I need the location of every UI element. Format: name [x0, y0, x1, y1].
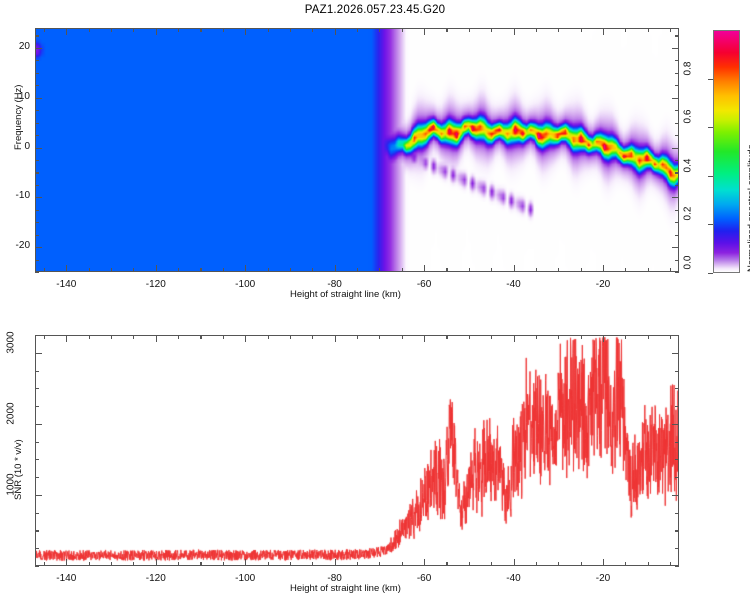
y-tick-right: [675, 210, 679, 211]
x-tick-top: [268, 335, 269, 339]
y-tick-right: [672, 247, 679, 248]
x-tick-top: [648, 335, 649, 339]
snr-line-plot: [36, 336, 679, 566]
x-tick-label: -60: [410, 279, 438, 290]
x-tick: [446, 268, 447, 272]
y-tick-right: [675, 477, 679, 478]
y-tick-right: [675, 85, 679, 86]
x-tick-label: -40: [500, 279, 528, 290]
x-tick: [446, 562, 447, 566]
x-tick-top: [111, 335, 112, 339]
x-tick-top: [89, 28, 90, 32]
y-tick: [35, 477, 39, 478]
y-tick: [35, 371, 39, 372]
x-tick-top: [424, 28, 425, 35]
y-tick-right: [672, 98, 679, 99]
x-tick: [469, 562, 470, 566]
colorbar-tick: [708, 273, 713, 274]
x-tick-label: -60: [410, 573, 438, 584]
x-tick-top: [536, 335, 537, 339]
x-tick-top: [603, 28, 604, 35]
x-tick: [536, 268, 537, 272]
x-tick-top: [312, 335, 313, 339]
y-tick-label: 20: [1, 41, 30, 52]
x-tick-top: [290, 335, 291, 339]
spectrogram-y-axis-label: Frequency (Hz): [13, 85, 24, 150]
y-tick-right: [675, 185, 679, 186]
x-tick-top: [469, 335, 470, 339]
x-tick-label: -140: [52, 573, 80, 584]
x-tick: [603, 559, 604, 566]
y-tick: [35, 548, 39, 549]
x-tick: [357, 268, 358, 272]
x-tick-top: [312, 28, 313, 32]
y-tick: [35, 172, 39, 173]
y-tick: [35, 60, 39, 61]
colorbar-tick: [708, 224, 713, 225]
y-tick-right: [675, 272, 679, 273]
x-tick-top: [558, 335, 559, 339]
x-tick-label: -40: [500, 573, 528, 584]
x-tick: [581, 562, 582, 566]
snr-x-axis-label: Height of straight line (km): [290, 583, 401, 594]
x-tick-top: [200, 28, 201, 32]
y-tick-right: [675, 35, 679, 36]
x-tick-top: [402, 28, 403, 32]
y-tick-right: [675, 172, 679, 173]
x-tick: [603, 265, 604, 272]
x-tick-top: [514, 28, 515, 35]
x-tick-label: -120: [142, 573, 170, 584]
y-tick: [35, 424, 42, 425]
x-tick: [111, 268, 112, 272]
y-tick: [35, 353, 42, 354]
y-tick: [35, 566, 39, 567]
x-tick: [312, 562, 313, 566]
x-tick-top: [379, 28, 380, 32]
y-tick-right: [675, 548, 679, 549]
y-tick: [35, 495, 42, 496]
y-tick-right: [675, 388, 679, 389]
x-tick: [268, 268, 269, 272]
snr-panel: [35, 335, 679, 566]
y-tick: [35, 98, 42, 99]
x-tick-top: [156, 28, 157, 35]
x-tick-top: [178, 28, 179, 32]
x-tick: [514, 559, 515, 566]
x-tick: [312, 268, 313, 272]
y-tick-right: [675, 235, 679, 236]
y-tick: [35, 272, 39, 273]
x-tick: [111, 562, 112, 566]
y-tick: [35, 459, 39, 460]
x-tick-top: [89, 335, 90, 339]
y-tick: [35, 123, 39, 124]
spectrogram-x-axis-label: Height of straight line (km): [290, 289, 401, 300]
x-tick-top: [603, 335, 604, 342]
x-tick-top: [357, 28, 358, 32]
x-tick: [290, 268, 291, 272]
x-tick-top: [335, 28, 336, 35]
y-tick: [35, 260, 39, 261]
x-tick: [424, 559, 425, 566]
y-tick-right: [672, 197, 679, 198]
x-tick-top: [357, 335, 358, 339]
y-tick-right: [675, 222, 679, 223]
x-tick: [581, 268, 582, 272]
x-tick-top: [223, 28, 224, 32]
y-tick-right: [672, 495, 679, 496]
y-tick-right: [675, 123, 679, 124]
x-tick: [625, 562, 626, 566]
x-tick: [514, 265, 515, 272]
x-tick-top: [491, 335, 492, 339]
x-tick: [379, 562, 380, 566]
x-tick-label: -100: [231, 279, 259, 290]
x-tick-top: [670, 335, 671, 339]
x-tick-top: [648, 28, 649, 32]
x-tick-top: [491, 28, 492, 32]
y-tick-right: [675, 335, 679, 336]
x-tick: [178, 268, 179, 272]
spectrogram-image: [36, 29, 679, 272]
x-tick-label: -100: [231, 573, 259, 584]
x-tick-top: [245, 28, 246, 35]
x-tick-top: [223, 335, 224, 339]
colorbar-tick-label: 0.8: [683, 61, 694, 75]
x-tick-top: [558, 28, 559, 32]
x-tick: [491, 268, 492, 272]
x-tick: [44, 268, 45, 272]
y-tick-label: -10: [1, 190, 30, 201]
x-tick: [66, 559, 67, 566]
x-tick: [335, 559, 336, 566]
y-tick-label: 3000: [6, 326, 17, 358]
x-tick-top: [156, 335, 157, 342]
y-tick: [35, 388, 39, 389]
x-tick-top: [44, 335, 45, 339]
colorbar-label: Normalized spectral amplitude: [746, 144, 750, 272]
x-tick-top: [133, 335, 134, 339]
x-tick: [268, 562, 269, 566]
y-tick: [35, 160, 39, 161]
x-tick: [424, 265, 425, 272]
y-tick-label: -20: [1, 240, 30, 251]
y-tick-right: [675, 260, 679, 261]
y-tick: [35, 335, 39, 336]
y-tick-label: 2000: [6, 397, 17, 429]
x-tick: [402, 562, 403, 566]
x-tick: [44, 562, 45, 566]
y-tick: [35, 35, 39, 36]
spectrogram-panel: [35, 28, 679, 272]
x-tick: [245, 265, 246, 272]
x-tick: [178, 562, 179, 566]
x-tick: [66, 265, 67, 272]
y-tick-right: [675, 442, 679, 443]
y-tick-right: [675, 160, 679, 161]
y-tick: [35, 247, 42, 248]
x-tick-top: [402, 335, 403, 339]
x-tick-label: -20: [589, 279, 617, 290]
y-tick-right: [675, 110, 679, 111]
x-tick-label: -20: [589, 573, 617, 584]
x-tick: [89, 562, 90, 566]
y-tick-right: [672, 148, 679, 149]
y-tick: [35, 513, 39, 514]
x-tick-top: [335, 335, 336, 342]
x-tick: [469, 268, 470, 272]
x-tick: [670, 562, 671, 566]
y-tick-right: [672, 353, 679, 354]
colorbar-tick-label: 0.4: [683, 158, 694, 172]
y-tick-right: [672, 424, 679, 425]
x-tick-top: [514, 335, 515, 342]
colorbar-tick-label: 0.6: [683, 110, 694, 124]
x-tick-top: [581, 335, 582, 339]
x-tick-top: [200, 335, 201, 339]
x-tick: [335, 265, 336, 272]
x-tick: [648, 268, 649, 272]
x-tick: [625, 268, 626, 272]
y-tick-right: [675, 459, 679, 460]
x-tick-top: [446, 335, 447, 339]
colorbar: [713, 30, 740, 273]
x-tick-top: [66, 28, 67, 35]
x-tick-top: [111, 28, 112, 32]
snr-y-axis-label: SNR (10 * v/v): [13, 439, 24, 500]
x-tick: [223, 268, 224, 272]
y-tick-right: [675, 406, 679, 407]
y-tick-right: [675, 135, 679, 136]
y-tick-right: [675, 530, 679, 531]
y-tick-right: [675, 513, 679, 514]
colorbar-tick-label: 0.2: [683, 207, 694, 221]
x-tick-top: [245, 335, 246, 342]
y-tick-right: [675, 371, 679, 372]
y-tick: [35, 73, 39, 74]
y-tick: [35, 442, 39, 443]
y-tick-right: [672, 48, 679, 49]
y-tick: [35, 85, 39, 86]
y-tick-right: [675, 566, 679, 567]
x-tick: [133, 268, 134, 272]
colorbar-tick: [708, 79, 713, 80]
x-tick: [558, 562, 559, 566]
y-tick: [35, 210, 39, 211]
x-tick-top: [178, 335, 179, 339]
x-tick: [402, 268, 403, 272]
y-tick-right: [675, 73, 679, 74]
x-tick: [379, 268, 380, 272]
x-tick-top: [469, 28, 470, 32]
x-tick-top: [424, 335, 425, 342]
x-tick: [200, 562, 201, 566]
y-tick: [35, 185, 39, 186]
x-tick: [491, 562, 492, 566]
x-tick-top: [66, 335, 67, 342]
x-tick: [670, 268, 671, 272]
y-tick: [35, 148, 42, 149]
x-tick-top: [268, 28, 269, 32]
colorbar-tick: [708, 127, 713, 128]
x-tick-top: [44, 28, 45, 32]
colorbar-tick: [708, 176, 713, 177]
x-tick-top: [625, 28, 626, 32]
y-tick: [35, 197, 42, 198]
x-tick: [223, 562, 224, 566]
y-tick: [35, 48, 42, 49]
x-tick: [357, 562, 358, 566]
x-tick: [558, 268, 559, 272]
x-tick-top: [625, 335, 626, 339]
figure-title: PAZ1.2026.057.23.45.G20: [0, 4, 750, 16]
x-tick: [536, 562, 537, 566]
y-tick: [35, 530, 39, 531]
x-tick-label: -140: [52, 279, 80, 290]
x-tick: [156, 265, 157, 272]
x-tick-top: [133, 28, 134, 32]
x-tick: [133, 562, 134, 566]
x-tick: [290, 562, 291, 566]
x-tick-top: [290, 28, 291, 32]
x-tick-top: [536, 28, 537, 32]
x-tick: [245, 559, 246, 566]
x-tick: [200, 268, 201, 272]
x-tick-top: [670, 28, 671, 32]
y-tick: [35, 235, 39, 236]
x-tick-top: [446, 28, 447, 32]
x-tick-top: [379, 335, 380, 339]
x-tick-top: [581, 28, 582, 32]
y-tick: [35, 110, 39, 111]
x-tick: [89, 268, 90, 272]
y-tick-right: [675, 60, 679, 61]
colorbar-tick-label: 0.0: [683, 256, 694, 270]
figure-root: PAZ1.2026.057.23.45.G20 -140-120-100-80-…: [0, 0, 750, 600]
y-tick: [35, 406, 39, 407]
x-tick: [156, 559, 157, 566]
x-tick-label: -120: [142, 279, 170, 290]
x-tick: [648, 562, 649, 566]
y-tick: [35, 135, 39, 136]
y-tick: [35, 222, 39, 223]
